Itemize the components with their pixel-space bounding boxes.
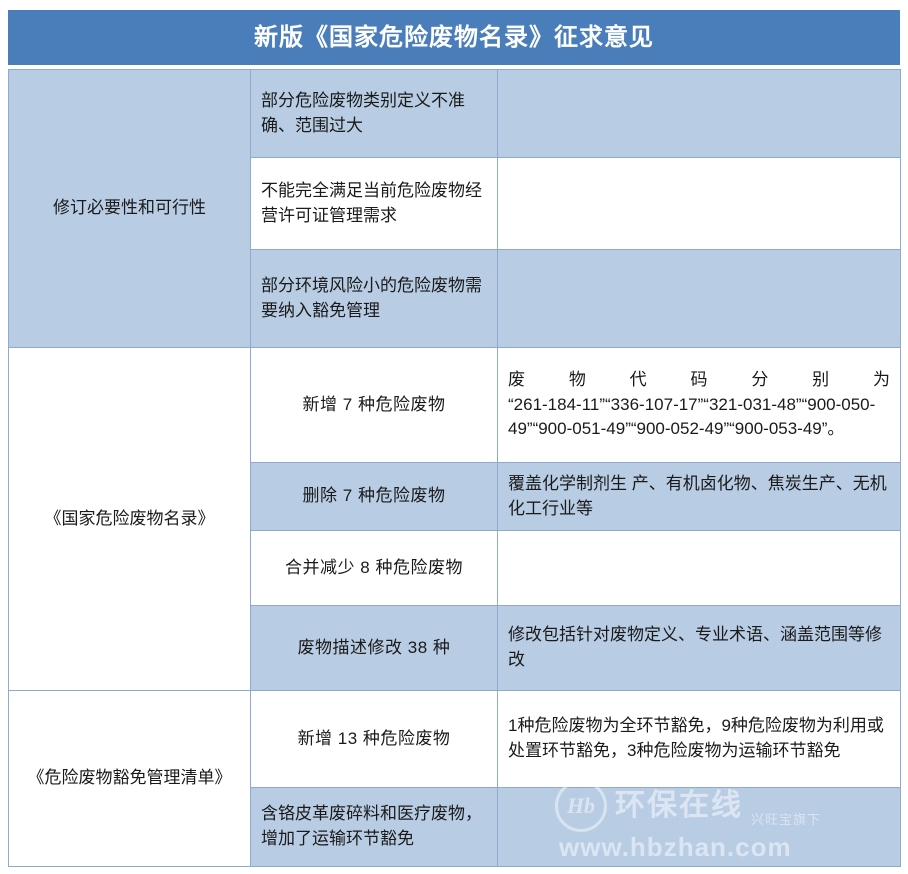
infographic-table-page: 新版《国家危险废物名录》征求意见 修订必要性和可行性 部分危险废物类别定义不准确… bbox=[0, 0, 908, 874]
detail-cell-s2-r1: 废物代码分别为“261-184-11”“336-107-17”“321-031-… bbox=[498, 348, 901, 463]
category-cell-revision-necessity: 修订必要性和可行性 bbox=[9, 70, 251, 348]
detail-cell-s1-r3 bbox=[498, 250, 901, 348]
detail-cell-s3-r2 bbox=[498, 788, 901, 867]
page-title-bar: 新版《国家危险废物名录》征求意见 bbox=[8, 10, 900, 65]
item-cell-s3-r1: 新增 13 种危险废物 bbox=[251, 691, 498, 788]
item-cell-s2-r4: 废物描述修改 38 种 bbox=[251, 606, 498, 691]
table-row: 修订必要性和可行性 部分危险废物类别定义不准确、范围过大 bbox=[9, 70, 901, 158]
item-cell-s2-r2: 删除 7 种危险废物 bbox=[251, 463, 498, 531]
detail-cell-s2-r1-codes: “261-184-11”“336-107-17”“321-031-48”“900… bbox=[508, 395, 875, 439]
item-cell-s1-r2: 不能完全满足当前危险废物经营许可证管理需求 bbox=[251, 158, 498, 250]
detail-cell-s1-r1 bbox=[498, 70, 901, 158]
item-cell-s2-r1: 新增 7 种危险废物 bbox=[251, 348, 498, 463]
item-cell-s1-r1: 部分危险废物类别定义不准确、范围过大 bbox=[251, 70, 498, 158]
detail-cell-s2-r1-head: 废物代码分别为 bbox=[508, 368, 890, 393]
category-cell-exemption-list: 《危险废物豁免管理清单》 bbox=[9, 691, 251, 867]
detail-cell-s3-r1: 1种危险废物为全环节豁免，9种危险废物为利用或处置环节豁免，3种危险废物为运输环… bbox=[498, 691, 901, 788]
table-row: 《国家危险废物名录》 新增 7 种危险废物 废物代码分别为“261-184-11… bbox=[9, 348, 901, 463]
detail-cell-s2-r4: 修改包括针对废物定义、专业术语、涵盖范围等修改 bbox=[498, 606, 901, 691]
detail-cell-s2-r2: 覆盖化学制剂生 产、有机卤化物、焦炭生产、无机化工行业等 bbox=[498, 463, 901, 531]
item-cell-s3-r2: 含铬皮革废碎料和医疗废物，增加了运输环节豁免 bbox=[251, 788, 498, 867]
page-title: 新版《国家危险废物名录》征求意见 bbox=[254, 26, 654, 50]
item-cell-s2-r3: 合并减少 8 种危险废物 bbox=[251, 531, 498, 606]
policy-summary-table: 修订必要性和可行性 部分危险废物类别定义不准确、范围过大 不能完全满足当前危险废… bbox=[8, 69, 901, 867]
item-cell-s1-r3: 部分环境风险小的危险废物需要纳入豁免管理 bbox=[251, 250, 498, 348]
detail-cell-s1-r2 bbox=[498, 158, 901, 250]
table-row: 《危险废物豁免管理清单》 新增 13 种危险废物 1种危险废物为全环节豁免，9种… bbox=[9, 691, 901, 788]
category-cell-national-catalogue: 《国家危险废物名录》 bbox=[9, 348, 251, 691]
detail-cell-s2-r3 bbox=[498, 531, 901, 606]
